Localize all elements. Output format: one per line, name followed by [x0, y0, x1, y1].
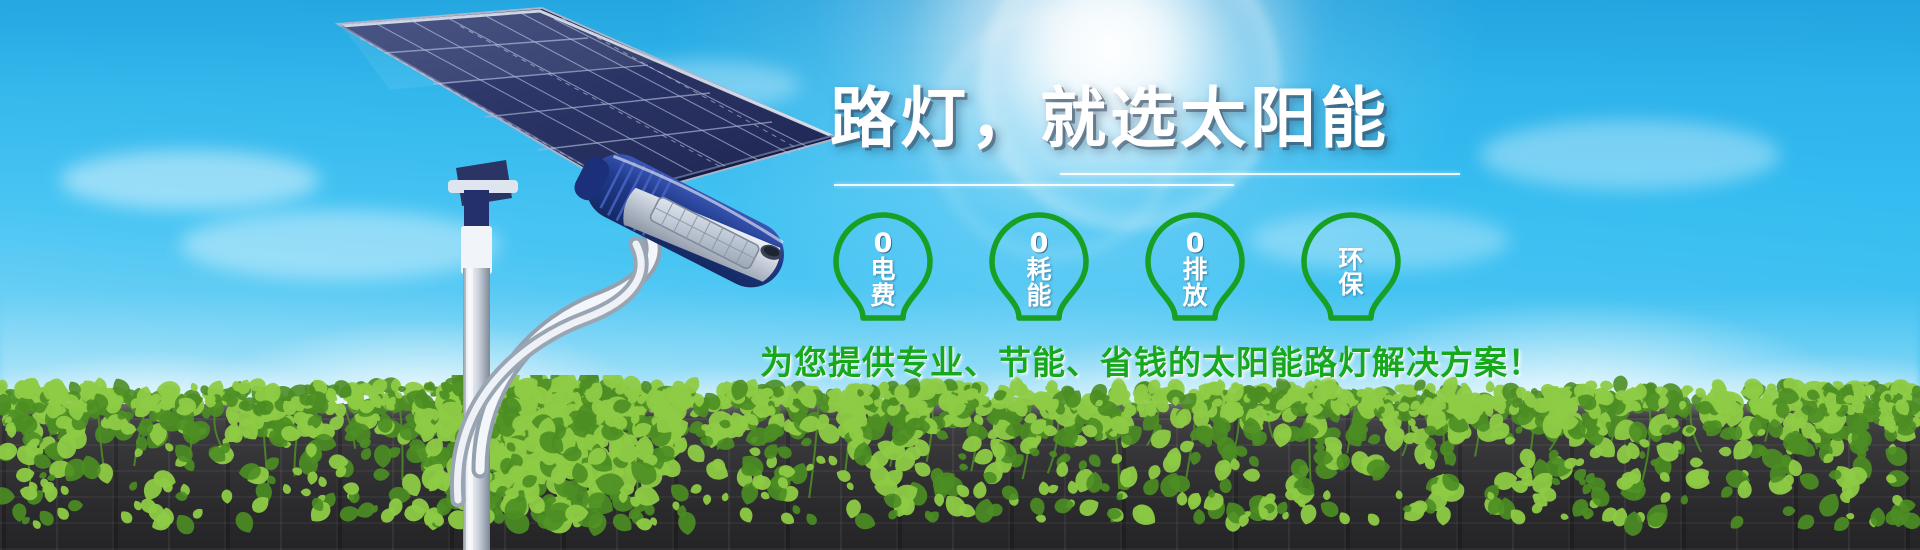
title-divider [760, 166, 1460, 192]
divider-line-lower [834, 184, 1234, 186]
feature-badge-list: 0电费0耗能0排放环保 [760, 208, 1460, 326]
copy-block: 路灯，就选太阳能 0电费0耗能0排放环保 为您提供专业、节能、省钱的太阳能路灯解… [760, 86, 1460, 384]
badge-zero-value: 0 [1030, 230, 1049, 257]
solar-street-light-banner: 路灯，就选太阳能 0电费0耗能0排放环保 为您提供专业、节能、省钱的太阳能路灯解… [0, 0, 1920, 550]
badge-label: 环保 [1338, 247, 1363, 298]
tiled-wall [0, 410, 1920, 550]
badge-zero-electric-bill: 0电费 [822, 208, 944, 326]
page-title: 路灯，就选太阳能 [760, 86, 1460, 152]
page-subtitle: 为您提供专业、节能、省钱的太阳能路灯解决方案！ [760, 336, 1460, 384]
cloud-wisp [1480, 120, 1780, 190]
badge-label: 耗能 [1026, 257, 1051, 308]
divider-line-upper [1060, 173, 1460, 175]
badge-eco-friendly: 环保 [1290, 208, 1412, 326]
badge-zero-energy-use: 0耗能 [978, 208, 1100, 326]
wall-tile-pattern [0, 410, 1920, 550]
badge-zero-value: 0 [1186, 230, 1205, 257]
cloud-wisp [60, 150, 320, 210]
badge-zero-value: 0 [874, 230, 893, 257]
badge-label: 电费 [870, 257, 895, 308]
lamp-pole [461, 190, 492, 550]
badge-label: 排放 [1182, 257, 1207, 308]
badge-zero-emission: 0排放 [1134, 208, 1256, 326]
